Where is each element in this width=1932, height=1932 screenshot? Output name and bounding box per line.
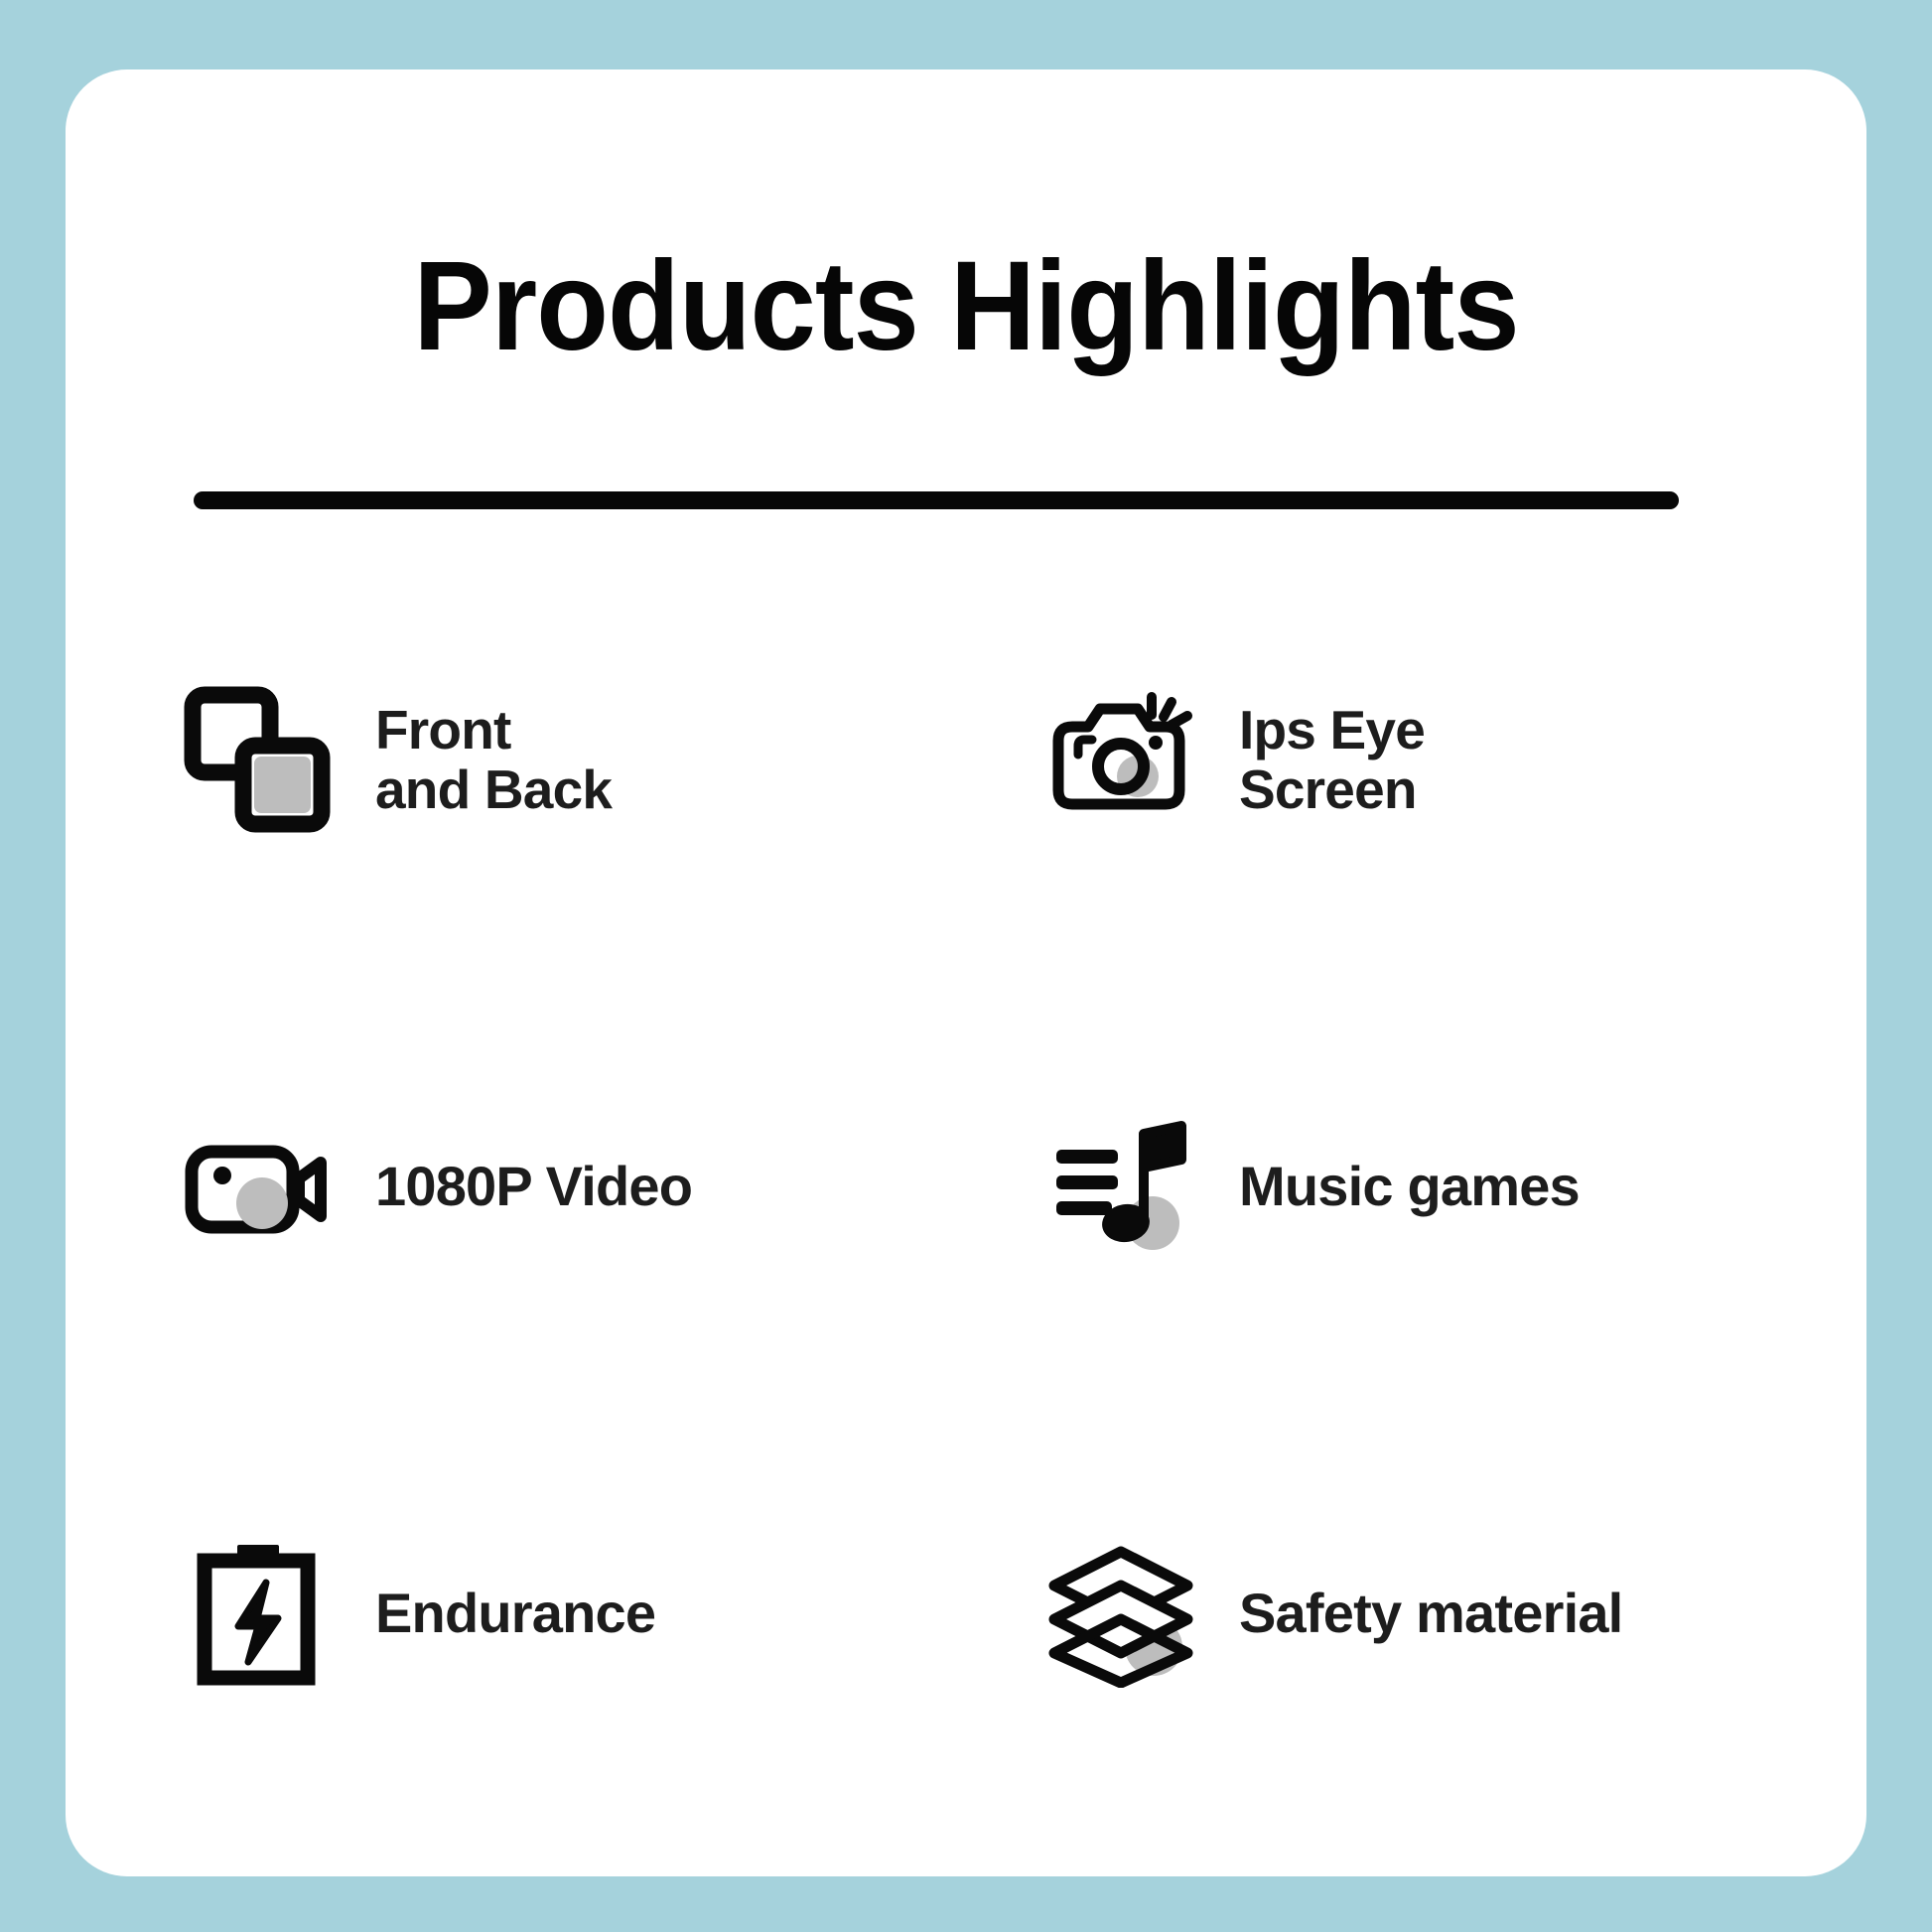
feature-label-ips-eye-screen: Ips Eye Screen [1239,700,1425,820]
battery-icon [183,1539,332,1688]
music-note-icon [1046,1112,1195,1261]
feature-item-safety-material[interactable]: Safety material [969,1400,1823,1827]
feature-label-safety-material: Safety material [1239,1583,1622,1645]
feature-item-music-games[interactable]: Music games [969,973,1823,1400]
video-camera-icon [183,1112,332,1261]
poster-root: Products Highlights Front and Back [0,0,1932,1932]
front-and-back-icon [183,685,332,834]
feature-grid: Front and Back Ips Eye Scr [66,546,1866,1827]
feature-item-ips-eye-screen[interactable]: Ips Eye Screen [969,546,1823,973]
feature-item-video-resolution[interactable]: 1080P Video [105,973,959,1400]
layers-icon [1046,1539,1195,1688]
feature-label-music-games: Music games [1239,1156,1580,1218]
feature-item-endurance[interactable]: Endurance [105,1400,959,1827]
content-card: Products Highlights Front and Back [66,69,1866,1876]
feature-item-front-and-back[interactable]: Front and Back [105,546,959,973]
feature-label-video-resolution: 1080P Video [375,1156,692,1218]
feature-label-front-and-back: Front and Back [375,700,612,820]
title-divider [194,491,1679,509]
camera-icon [1046,685,1195,834]
page-title: Products Highlights [128,243,1803,370]
feature-label-endurance: Endurance [375,1583,655,1645]
